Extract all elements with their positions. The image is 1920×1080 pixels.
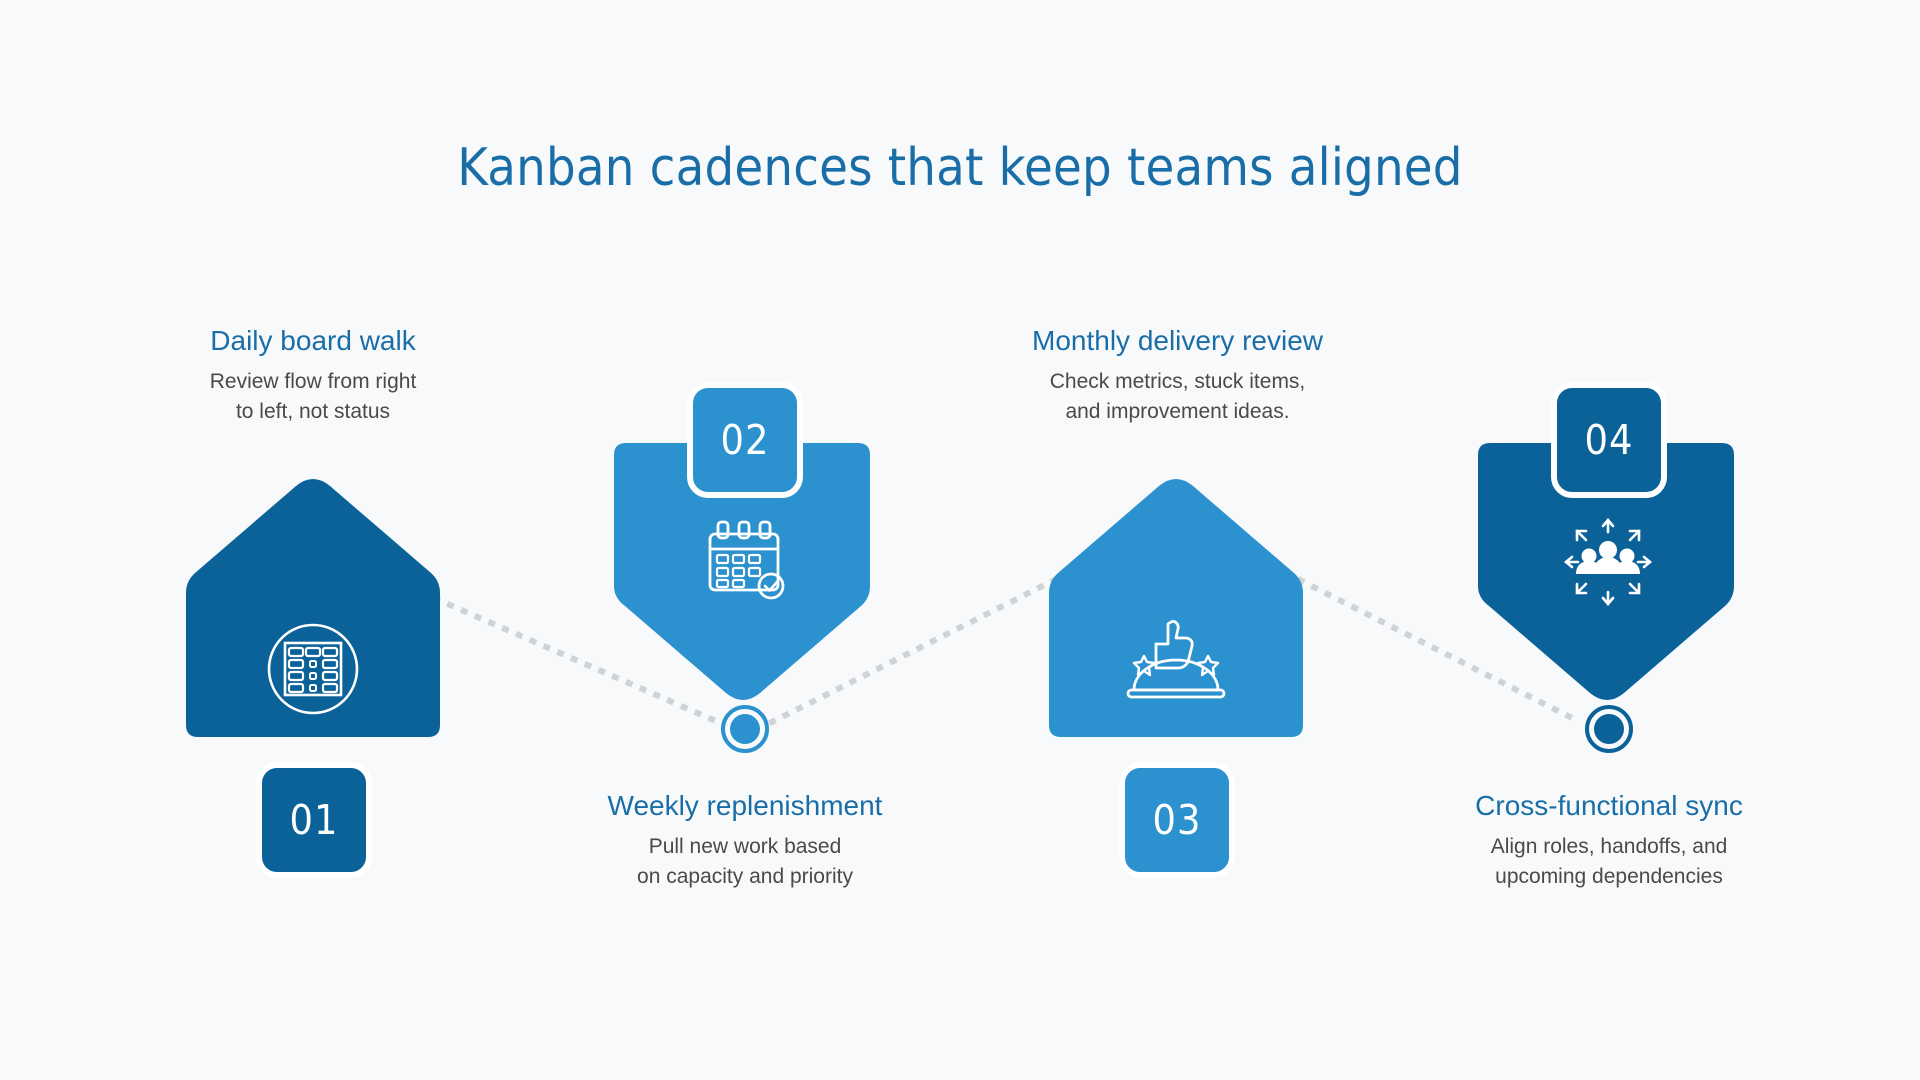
step-2-number-badge[interactable] <box>690 385 800 495</box>
step-4-body: Align roles, handoffs, and upcoming depe… <box>1429 832 1789 893</box>
step-3-body: Check metrics, stuck items, and improvem… <box>975 367 1380 428</box>
step-1-body: Review flow from right to left, not stat… <box>133 367 493 428</box>
step-1-text: Daily board walk Review flow from right … <box>133 323 493 428</box>
step-3-heading: Monthly delivery review <box>975 323 1380 358</box>
step-3-text: Monthly delivery review Check metrics, s… <box>975 323 1380 428</box>
step-4-heading: Cross-functional sync <box>1429 788 1789 823</box>
step-1-heading: Daily board walk <box>133 323 493 358</box>
step-4-number-badge[interactable] <box>1554 385 1664 495</box>
step-1-number-badge[interactable] <box>259 765 369 875</box>
step-1-graphic[interactable] <box>186 479 440 875</box>
connector-lines <box>285 533 1580 722</box>
diagram-graphics <box>0 0 1920 1080</box>
step-4-icon <box>1566 520 1650 604</box>
step-4-text: Cross-functional sync Align roles, hando… <box>1429 788 1789 893</box>
step-4-connector-dot <box>1587 707 1631 751</box>
infographic-canvas: Kanban cadences that keep teams aligned <box>0 0 1920 1080</box>
step-2-heading: Weekly replenishment <box>565 788 925 823</box>
step-2-body: Pull new work based on capacity and prio… <box>565 832 925 893</box>
step-2-graphic[interactable] <box>614 385 870 751</box>
step-2-text: Weekly replenishment Pull new work based… <box>565 788 925 893</box>
step-3-graphic[interactable] <box>1049 479 1303 875</box>
step-4-graphic[interactable] <box>1478 385 1734 751</box>
step-2-connector-dot <box>723 707 767 751</box>
step-3-number-badge[interactable] <box>1122 765 1232 875</box>
